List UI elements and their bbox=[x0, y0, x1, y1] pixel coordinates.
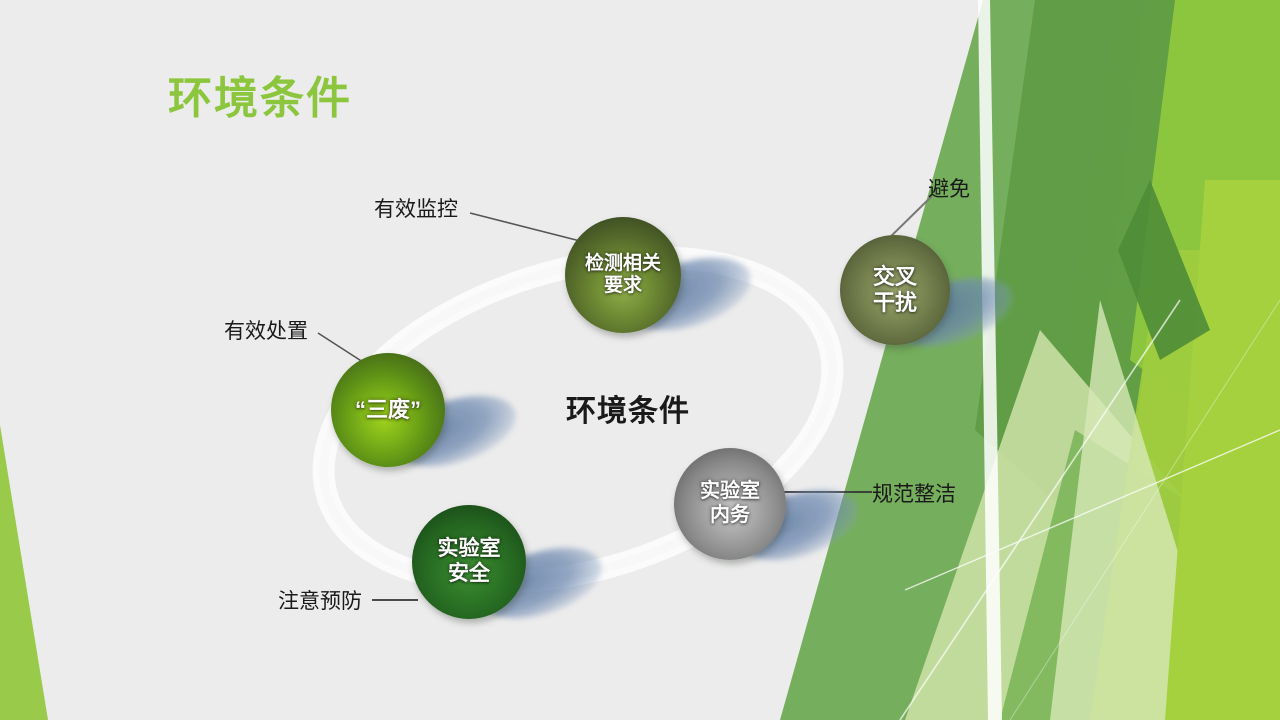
callout-disposal: 有效处置 bbox=[224, 315, 308, 345]
node-threewaste-ball[interactable]: “三废” bbox=[331, 353, 445, 467]
node-detection-line-1: 检测相关 bbox=[581, 253, 665, 275]
node-labsafety-line-1: 实验室 bbox=[434, 537, 505, 562]
node-crosstalk-line-1: 交叉 bbox=[869, 264, 921, 290]
node-labsafety-ball[interactable]: 实验室 安全 bbox=[412, 505, 526, 619]
node-labkeeping-line-1: 实验室 bbox=[696, 480, 764, 504]
callout-monitoring: 有效监控 bbox=[374, 193, 458, 223]
node-labsafety-line-2: 安全 bbox=[434, 562, 505, 587]
node-crosstalk-ball[interactable]: 交叉 干扰 bbox=[840, 235, 950, 345]
callout-tidy: 规范整洁 bbox=[872, 478, 956, 508]
page-title: 环境条件 bbox=[168, 62, 352, 126]
node-detection-line-2: 要求 bbox=[581, 275, 665, 297]
node-labkeeping-line-2: 内务 bbox=[696, 504, 764, 528]
slide-canvas: 环境条件 检测相关 要求 交叉 干扰 “三废” bbox=[0, 0, 1280, 720]
node-threewaste-line-1: “三废” bbox=[351, 397, 425, 423]
callout-prevention: 注意预防 bbox=[278, 585, 362, 615]
node-detection-ball[interactable]: 检测相关 要求 bbox=[565, 217, 681, 333]
callout-avoid: 避免 bbox=[928, 173, 970, 203]
node-labkeeping-ball[interactable]: 实验室 内务 bbox=[674, 448, 786, 560]
center-heading: 环境条件 bbox=[566, 386, 690, 430]
node-crosstalk-line-2: 干扰 bbox=[869, 290, 921, 316]
